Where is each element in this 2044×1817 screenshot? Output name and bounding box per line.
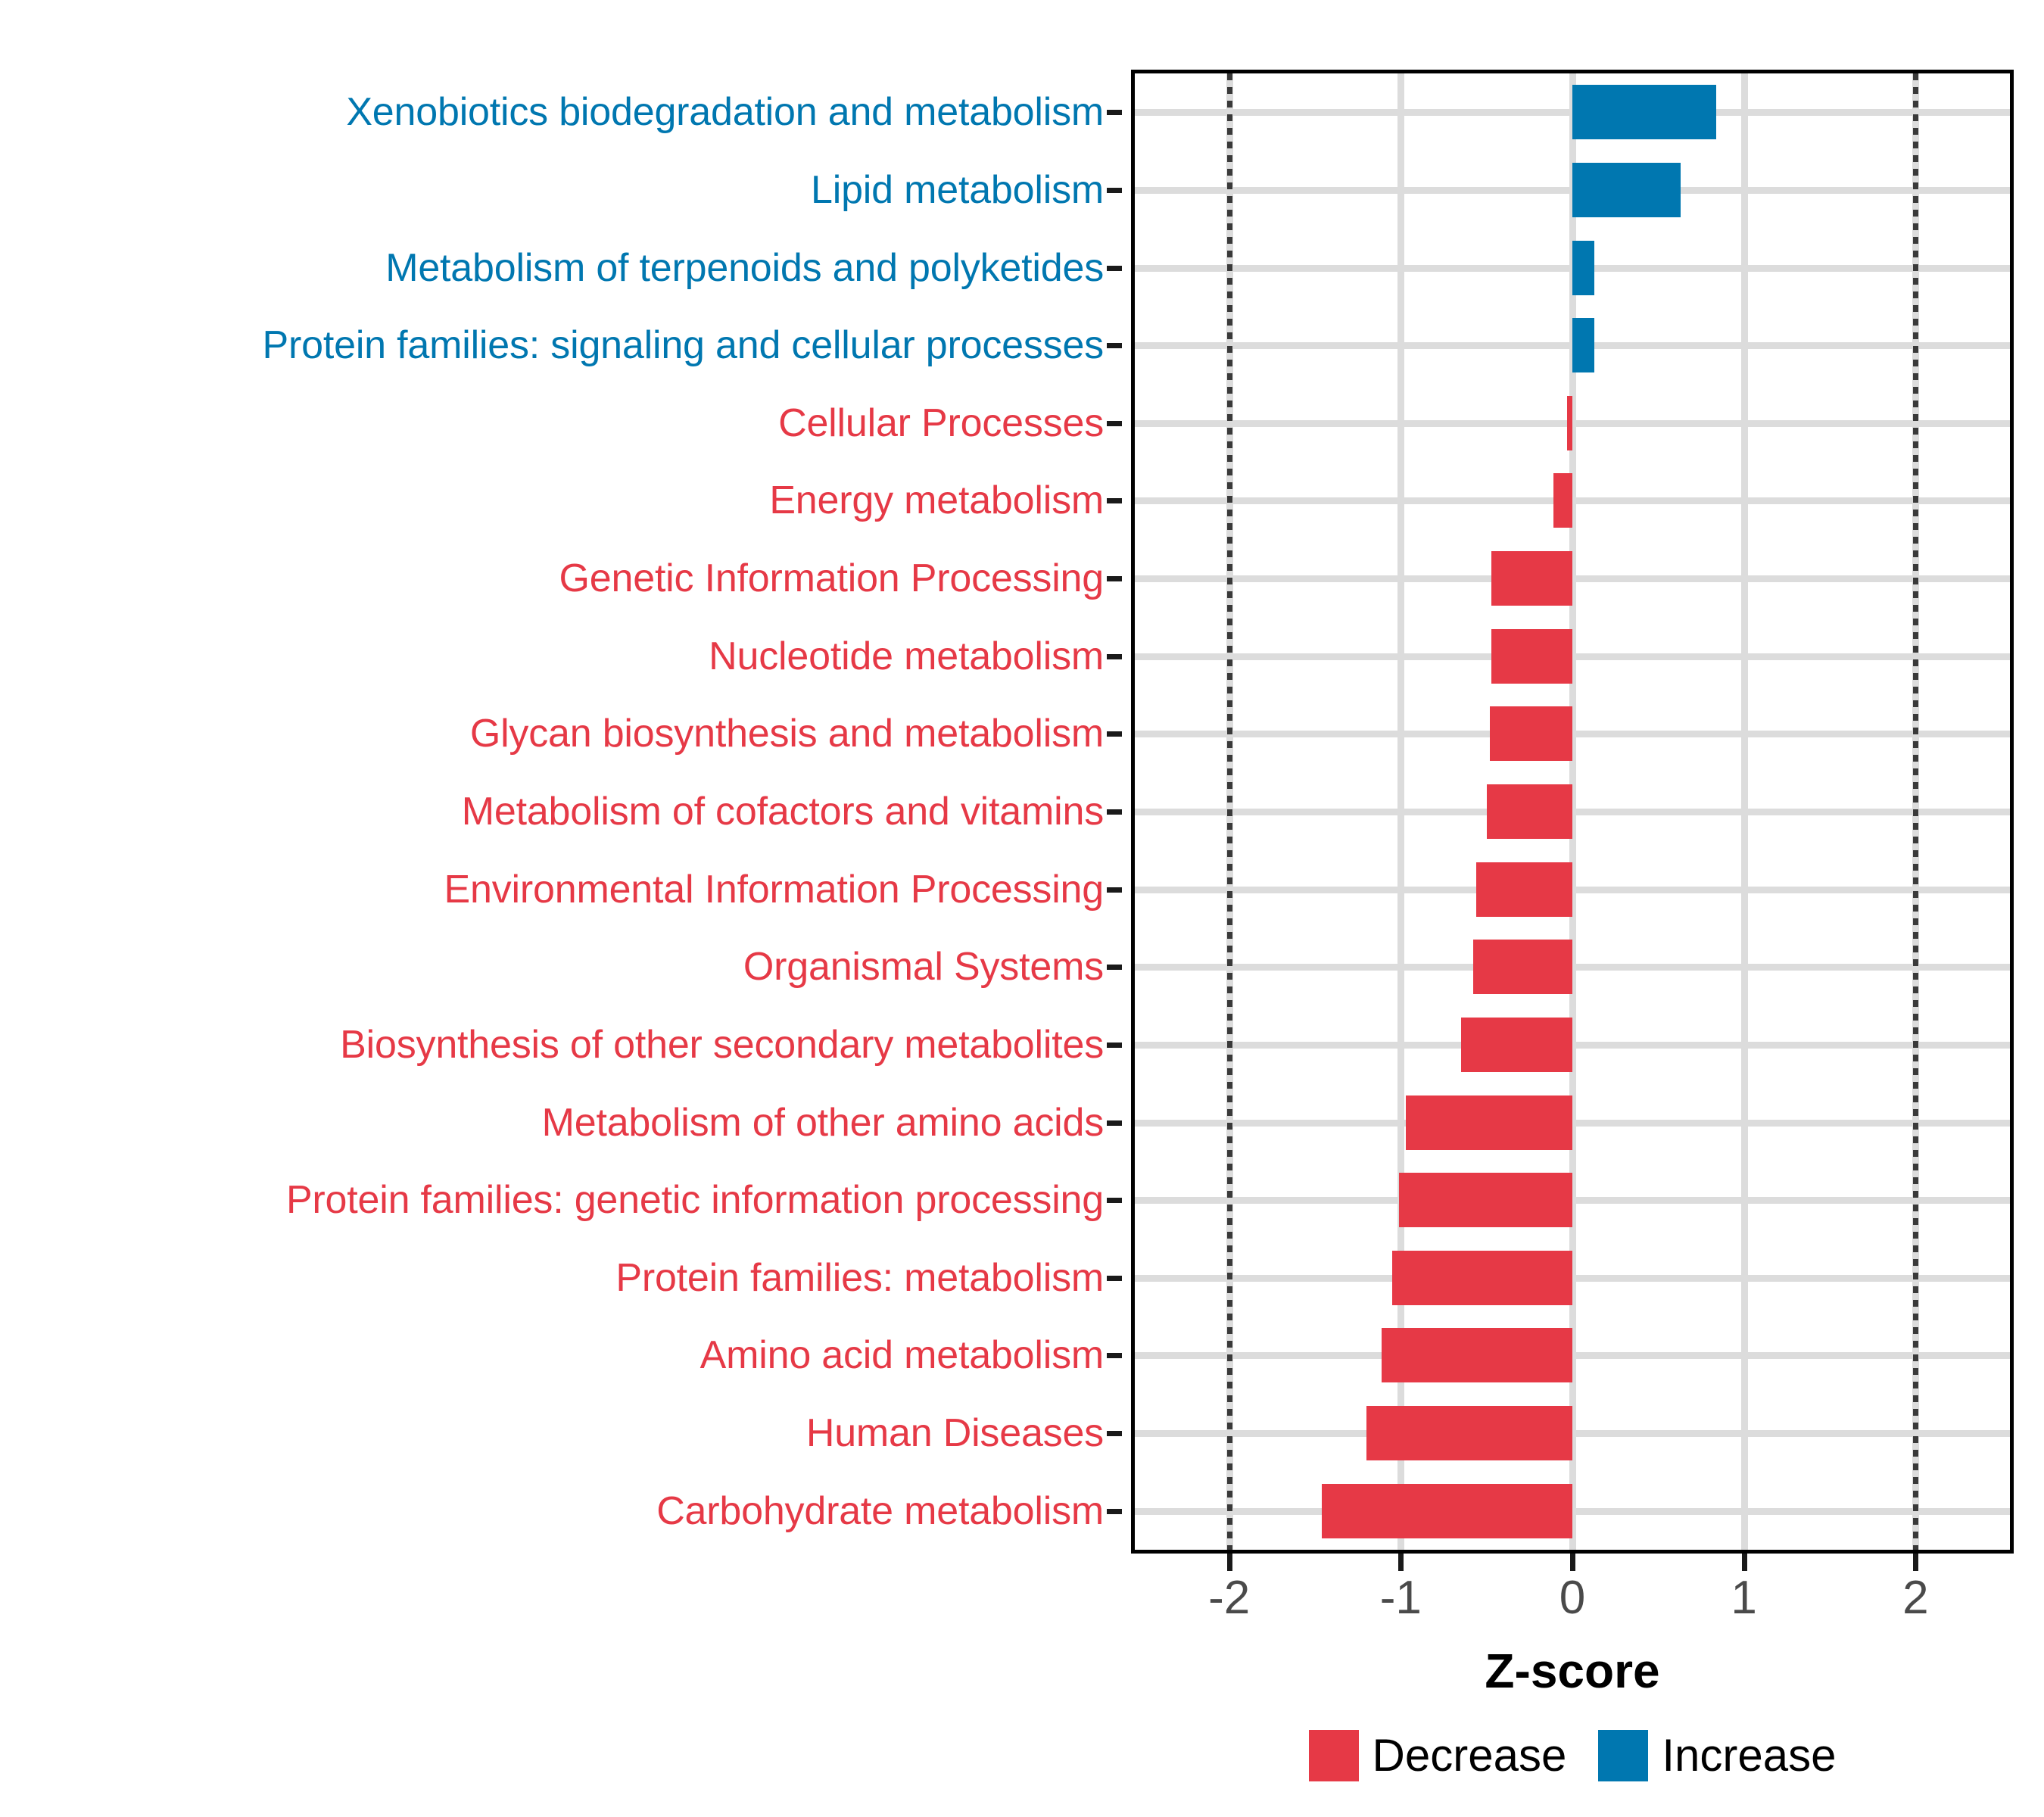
bar <box>1572 85 1716 139</box>
legend-label: Decrease <box>1373 1733 1567 1778</box>
legend-item[interactable]: Increase <box>1598 1730 1836 1781</box>
legend-swatch-increase <box>1598 1730 1648 1781</box>
y-axis-tick-mark <box>1107 1043 1122 1048</box>
y-axis-tick-label: Glycan biosynthesis and metabolism <box>470 714 1104 753</box>
y-axis-tick-label: Metabolism of cofactors and vitamins <box>462 792 1104 831</box>
x-axis-tick-mark <box>1570 1554 1575 1571</box>
y-axis-tick-mark <box>1107 1509 1122 1514</box>
y-axis-tick-mark <box>1107 1120 1122 1126</box>
reference-line <box>1227 73 1232 1550</box>
y-axis-tick-label: Organismal Systems <box>743 947 1104 986</box>
x-axis-tick-mark <box>1227 1554 1232 1571</box>
bar <box>1399 1173 1572 1227</box>
y-axis-tick-label: Protein families: genetic information pr… <box>286 1180 1104 1220</box>
y-axis-tick-mark <box>1107 809 1122 815</box>
x-axis-tick-label: -1 <box>1380 1575 1422 1622</box>
x-axis-tick-mark <box>1913 1554 1918 1571</box>
y-axis-tick-mark <box>1107 965 1122 970</box>
y-axis-tick-mark <box>1107 498 1122 503</box>
y-axis-tick-mark <box>1107 110 1122 115</box>
legend-swatch-decrease <box>1309 1730 1359 1781</box>
x-axis-title: Z-score <box>1131 1647 2014 1695</box>
y-axis-tick-label: Biosynthesis of other secondary metaboli… <box>340 1025 1104 1064</box>
y-axis-tick-label: Metabolism of terpenoids and polyketides <box>385 248 1104 288</box>
x-axis-tick-label: 2 <box>1902 1575 1928 1622</box>
y-axis-tick-label: Protein families: signaling and cellular… <box>263 326 1104 365</box>
y-axis-tick-mark <box>1107 654 1122 659</box>
y-axis-tick-label: Genetic Information Processing <box>559 559 1104 598</box>
bar <box>1567 396 1572 450</box>
chart-legend: DecreaseIncrease <box>1131 1730 2014 1781</box>
y-axis-tick-label: Environmental Information Processing <box>444 870 1104 909</box>
y-axis-tick-mark <box>1107 1353 1122 1358</box>
y-axis-tick-mark <box>1107 1276 1122 1281</box>
plot-panel <box>1131 70 2014 1554</box>
y-axis-labels: Xenobiotics biodegradation and metabolis… <box>0 70 1131 1554</box>
y-axis-tick-label: Lipid metabolism <box>811 170 1104 210</box>
y-axis-tick-label: Cellular Processes <box>778 404 1104 443</box>
y-axis-tick-label: Protein families: metabolism <box>615 1258 1104 1298</box>
y-axis-tick-label: Carbohydrate metabolism <box>656 1491 1104 1531</box>
y-axis-tick-mark <box>1107 343 1122 348</box>
bar <box>1366 1406 1572 1460</box>
vertical-gridline <box>1741 73 1748 1550</box>
y-axis-tick-mark <box>1107 1198 1122 1203</box>
figure-root: Xenobiotics biodegradation and metabolis… <box>0 0 2044 1817</box>
bar <box>1392 1251 1572 1305</box>
y-axis-tick-label: Energy metabolism <box>769 481 1104 520</box>
bar <box>1491 551 1572 606</box>
x-axis-tick-label: 0 <box>1559 1575 1585 1622</box>
y-axis-tick-mark <box>1107 731 1122 737</box>
y-axis-tick-mark <box>1107 576 1122 581</box>
y-axis-tick-mark <box>1107 887 1122 893</box>
bar <box>1461 1018 1572 1072</box>
legend-label: Increase <box>1662 1733 1836 1778</box>
x-axis-tick-mark <box>1398 1554 1404 1571</box>
y-axis-tick-label: Nucleotide metabolism <box>709 637 1104 676</box>
bar <box>1322 1484 1572 1538</box>
bar <box>1382 1328 1572 1382</box>
bar <box>1572 318 1594 372</box>
y-axis-tick-mark <box>1107 421 1122 426</box>
x-axis-tick-label: 1 <box>1731 1575 1756 1622</box>
y-axis-tick-mark <box>1107 188 1122 193</box>
x-axis-tick-mark <box>1742 1554 1747 1571</box>
y-axis-tick-label: Human Diseases <box>806 1413 1104 1453</box>
legend-item[interactable]: Decrease <box>1309 1730 1567 1781</box>
bar <box>1473 940 1572 994</box>
bar <box>1487 784 1572 839</box>
x-axis-tick-label: -2 <box>1208 1575 1250 1622</box>
bar <box>1490 706 1572 761</box>
bar <box>1553 473 1572 528</box>
y-axis-tick-label: Xenobiotics biodegradation and metabolis… <box>346 92 1104 132</box>
y-axis-tick-label: Amino acid metabolism <box>700 1335 1104 1375</box>
bar <box>1572 241 1594 295</box>
y-axis-tick-mark <box>1107 1431 1122 1436</box>
y-axis-tick-label: Metabolism of other amino acids <box>542 1103 1104 1142</box>
reference-line <box>1913 73 1918 1550</box>
y-axis-tick-mark <box>1107 266 1122 271</box>
bar <box>1406 1095 1572 1150</box>
bar <box>1491 629 1572 684</box>
bar <box>1572 163 1681 217</box>
bar <box>1476 862 1572 917</box>
